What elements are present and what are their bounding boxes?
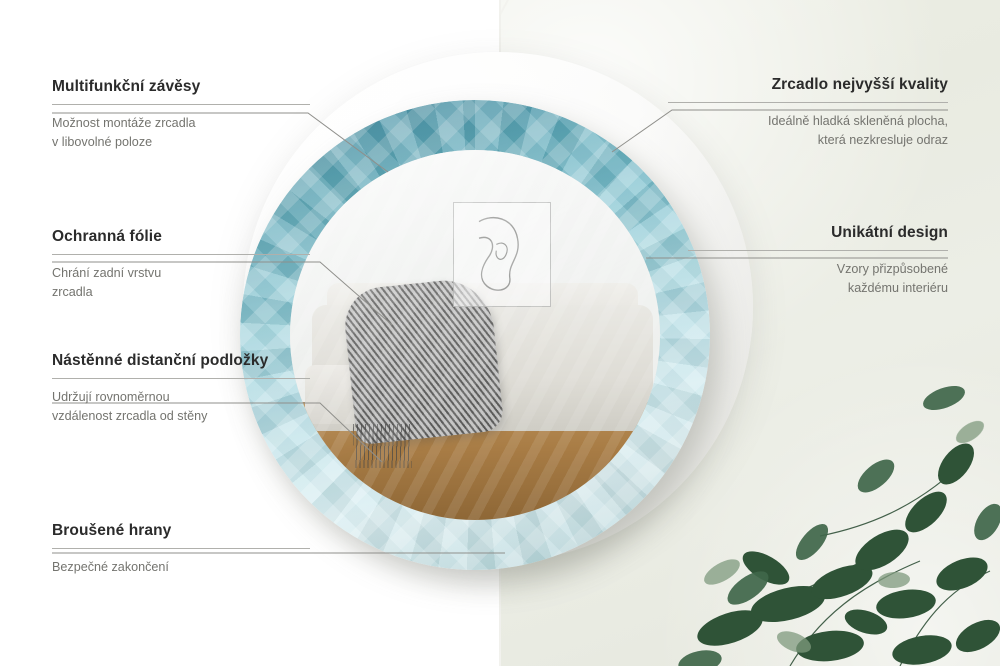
mirror-glass: [290, 150, 660, 520]
callout-line: Chrání zadní vrstvu: [52, 266, 161, 280]
callout-title: Broušené hrany: [52, 522, 310, 541]
callout-line: která nezkresluje odraz: [818, 133, 948, 147]
mirror-outer: [240, 100, 710, 570]
mirror-glass-glare: [290, 150, 660, 520]
callout-line: zrcadla: [52, 285, 93, 299]
callout-zrcadlo-nejvyssi-kvality: Zrcadlo nejvyšší kvality Ideálně hladká …: [668, 76, 948, 150]
callout-description: Udržují rovnoměrnou vzdálenost zrcadla o…: [52, 388, 310, 426]
foliage-decoration: [670, 336, 1000, 666]
callout-line: v libovolné poloze: [52, 135, 152, 149]
callout-line: Možnost montáže zrcadla: [52, 116, 196, 130]
callout-rule: [688, 250, 948, 251]
callout-multifunkcni-zavesy: Multifunkční závěsy Možnost montáže zrca…: [52, 78, 310, 152]
callout-description: Bezpečné zakončení: [52, 558, 310, 577]
callout-line: Udržují rovnoměrnou: [52, 390, 170, 404]
callout-line: Ideálně hladká skleněná plocha,: [768, 114, 948, 128]
callout-line: Vzory přizpůsobené: [837, 262, 948, 276]
callout-line: vzdálenost zrcadla od stěny: [52, 409, 207, 423]
callout-title: Ochranná fólie: [52, 228, 310, 247]
callout-description: Chrání zadní vrstvu zrcadla: [52, 264, 310, 302]
callout-description: Vzory přizpůsobené každému interiéru: [688, 260, 948, 298]
callout-title: Zrcadlo nejvyšší kvality: [668, 76, 948, 95]
callout-unikatni-design: Unikátní design Vzory přizpůsobené každé…: [688, 224, 948, 298]
infographic-canvas: Multifunkční závěsy Možnost montáže zrca…: [0, 0, 1000, 666]
callout-title: Unikátní design: [688, 224, 948, 243]
callout-title: Multifunkční závěsy: [52, 78, 310, 97]
callout-description: Možnost montáže zrcadla v libovolné polo…: [52, 114, 310, 152]
callout-brousene-hrany: Broušené hrany Bezpečné zakončení: [52, 522, 310, 577]
callout-line: každému interiéru: [848, 281, 948, 295]
callout-rule: [52, 378, 310, 379]
callout-title: Nástěnné distanční podložky: [52, 352, 310, 371]
callout-ochranna-folie: Ochranná fólie Chrání zadní vrstvu zrcad…: [52, 228, 310, 302]
callout-rule: [668, 102, 948, 103]
callout-description: Ideálně hladká skleněná plocha, která ne…: [668, 112, 948, 150]
callout-rule: [52, 104, 310, 105]
leaves-icon: [670, 336, 1000, 666]
callout-rule: [52, 548, 310, 549]
callout-nastenne-distancni-podlozky: Nástěnné distanční podložky Udržují rovn…: [52, 352, 310, 426]
callout-line: Bezpečné zakončení: [52, 560, 169, 574]
callout-rule: [52, 254, 310, 255]
